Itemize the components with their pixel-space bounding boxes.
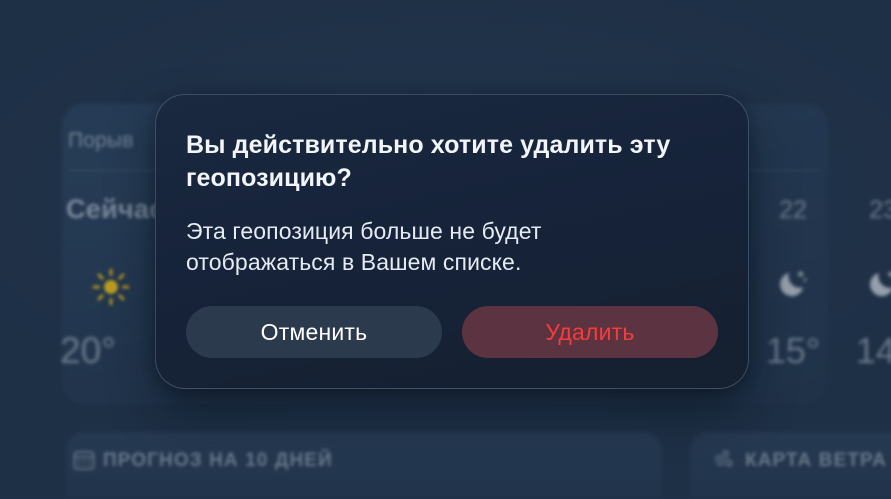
dialog-actions: Отменить Удалить bbox=[186, 306, 718, 362]
dialog-title: Вы действительно хотите удалить эту геоп… bbox=[186, 129, 711, 196]
dialog-message: Эта геопозиция больше не будет отображат… bbox=[186, 216, 626, 279]
delete-location-dialog: Вы действительно хотите удалить эту геоп… bbox=[155, 94, 749, 389]
cancel-button[interactable]: Отменить bbox=[186, 306, 442, 358]
delete-button[interactable]: Удалить bbox=[462, 306, 718, 358]
